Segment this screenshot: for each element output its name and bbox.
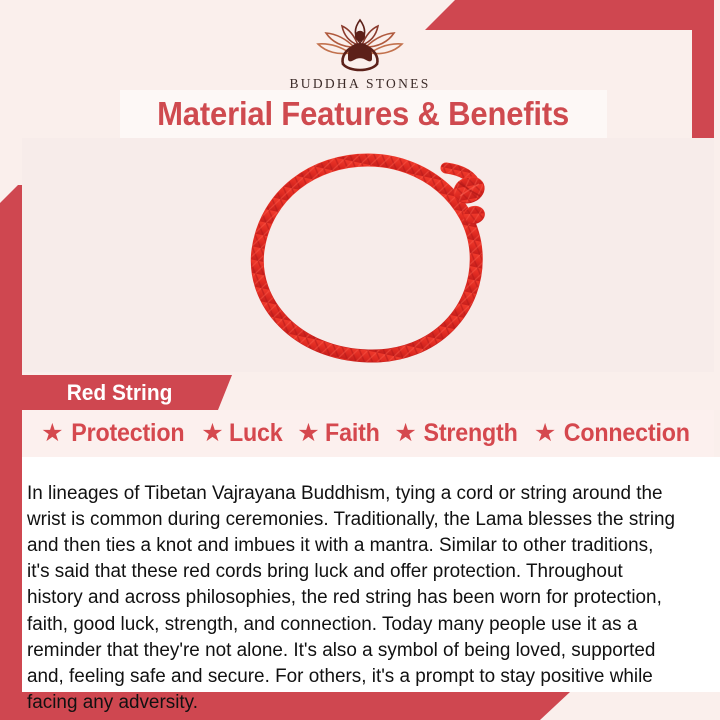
product-name-label: Red String — [26, 380, 173, 406]
feature-item-connection: ★ Connection — [534, 419, 695, 448]
star-icon: ★ — [201, 421, 223, 446]
lotus-meditation-icon — [308, 14, 412, 74]
feature-item-protection: ★ Protection — [41, 419, 188, 448]
star-icon: ★ — [394, 421, 416, 446]
feature-label: Luck — [229, 419, 283, 448]
feature-item-strength: ★ Strength — [394, 419, 521, 448]
feature-label: Faith — [325, 419, 380, 448]
feature-item-luck: ★ Luck — [201, 419, 284, 448]
feature-label: Protection — [71, 419, 184, 448]
description-panel: In lineages of Tibetan Vajrayana Buddhis… — [22, 457, 720, 692]
infographic-page: BUDDHA STONES Material Features & Benefi… — [0, 0, 720, 720]
brand-logo: BUDDHA STONES — [0, 14, 720, 92]
feature-list: ★ Protection ★ Luck ★ Faith ★ Strength ★… — [22, 410, 714, 457]
feature-label: Connection — [564, 419, 690, 448]
brand-name: BUDDHA STONES — [0, 76, 720, 92]
product-name-ribbon: Red String — [22, 375, 232, 410]
red-string-bracelet-illustration — [218, 146, 518, 372]
feature-item-faith: ★ Faith — [297, 419, 381, 448]
description-text: In lineages of Tibetan Vajrayana Buddhis… — [27, 480, 675, 716]
title-banner: Material Features & Benefits — [120, 90, 607, 138]
star-icon: ★ — [41, 421, 63, 446]
feature-label: Strength — [423, 419, 517, 448]
frame-left-bar — [0, 185, 22, 697]
star-icon: ★ — [297, 421, 319, 446]
product-image — [22, 138, 714, 372]
page-title: Material Features & Benefits — [158, 95, 570, 133]
star-icon: ★ — [534, 421, 556, 446]
